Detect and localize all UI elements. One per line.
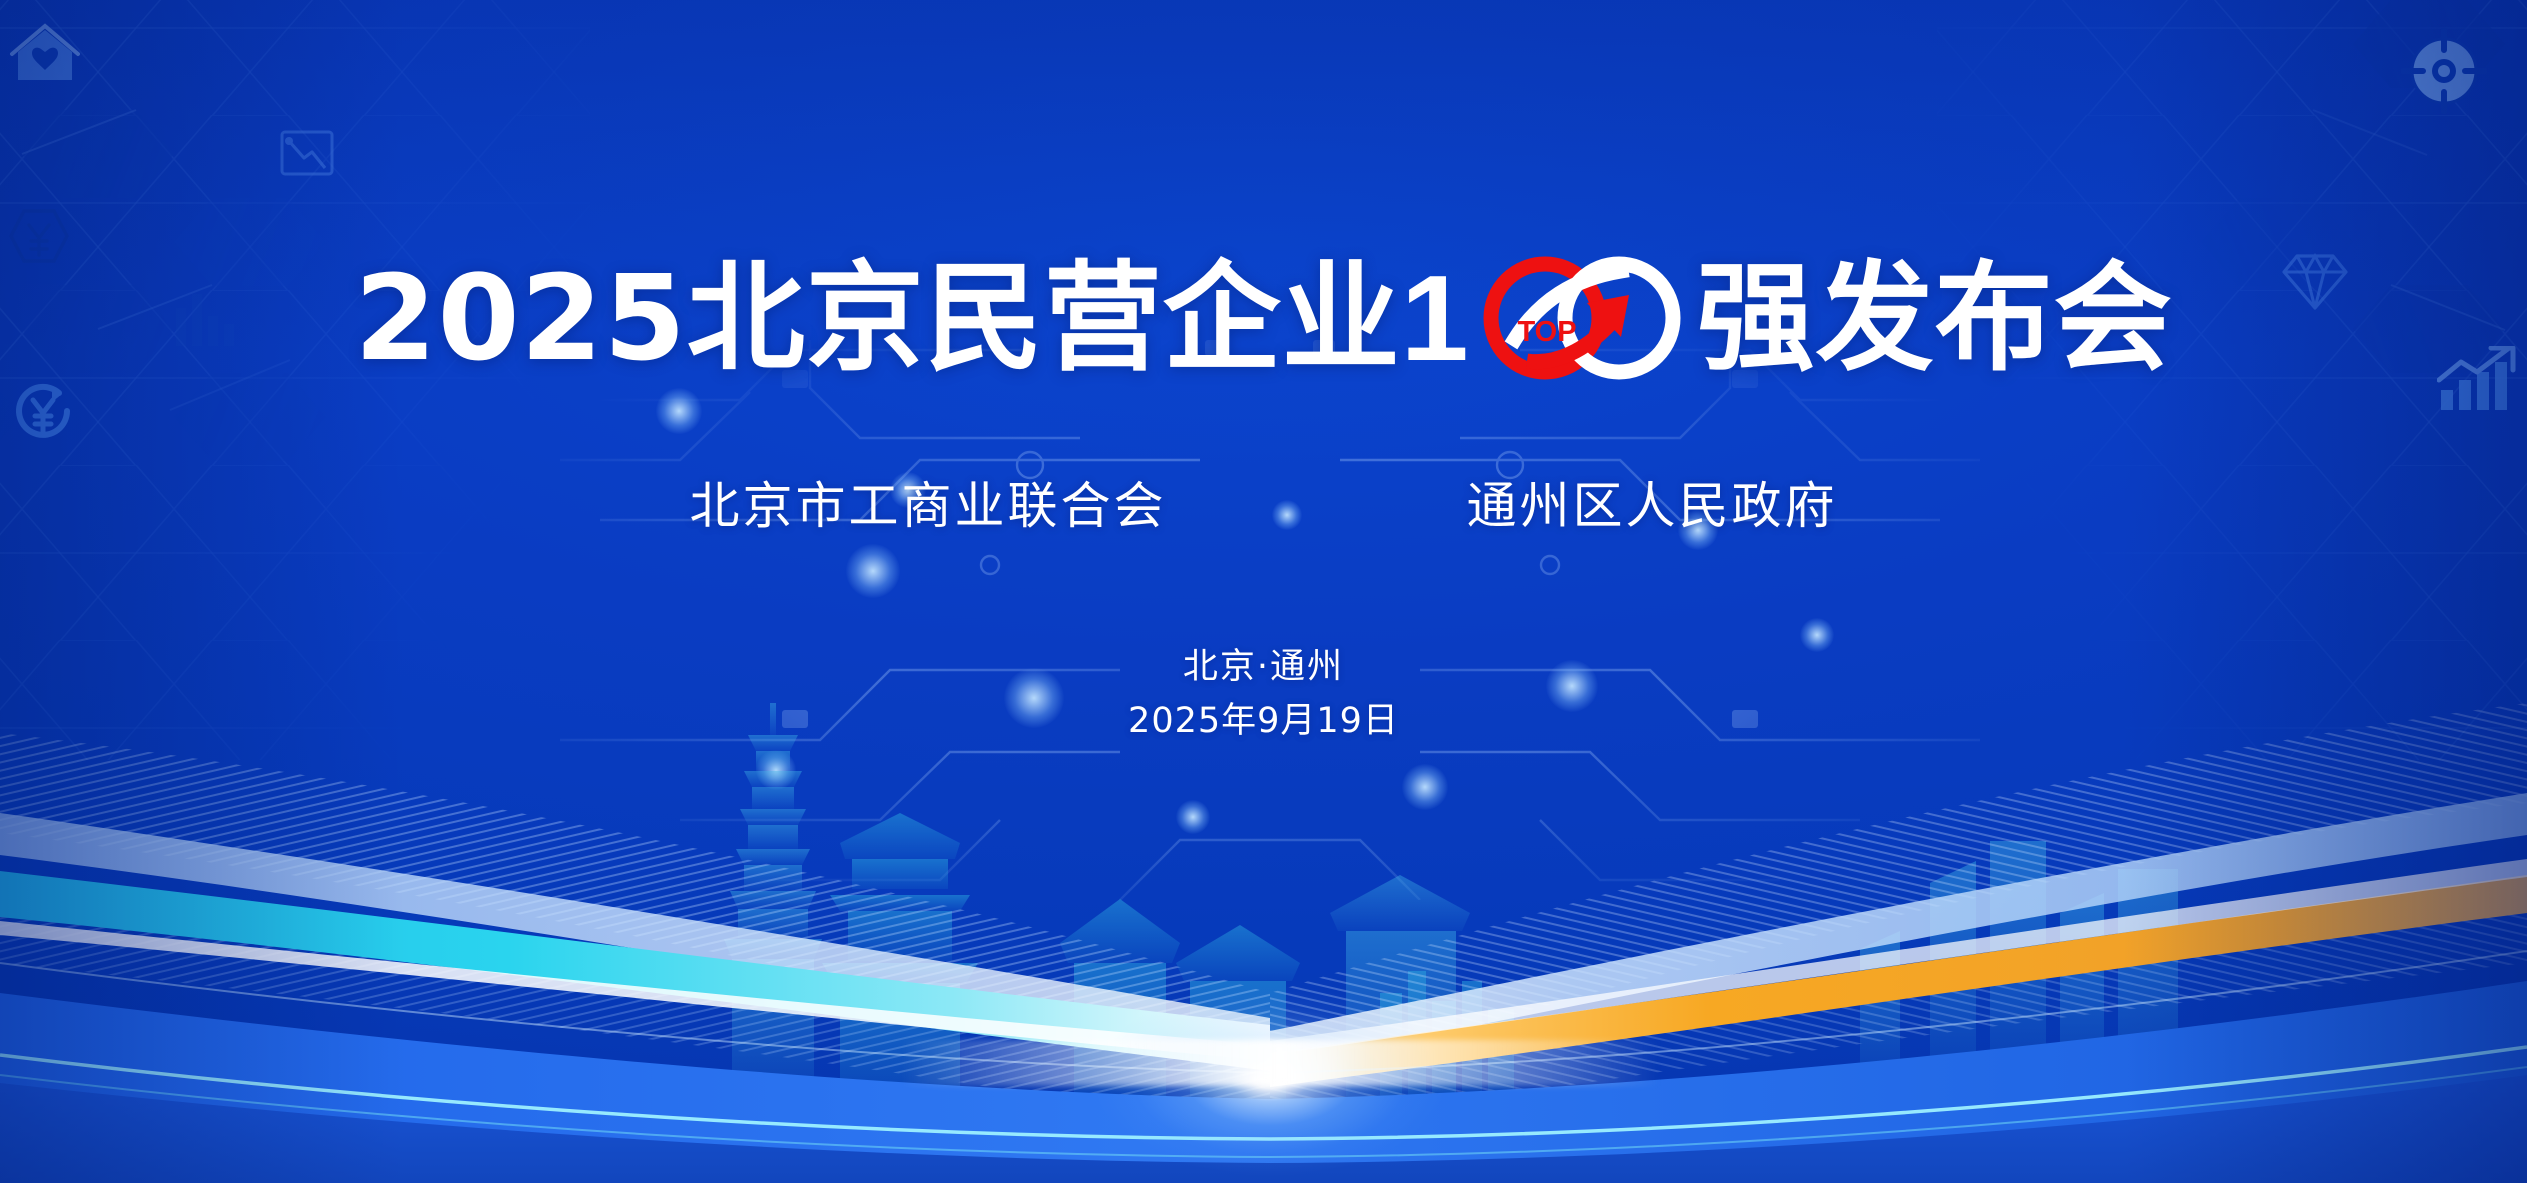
venue-date: 2025年9月19日 xyxy=(0,694,2527,748)
venue-location: 北京·通州 xyxy=(0,640,2527,694)
organizer-2: 通州区人民政府 xyxy=(1467,466,1838,538)
title-number: 1 xyxy=(1401,257,1467,379)
logo-top-label: TOP xyxy=(1517,316,1576,348)
poster-stage: 2025北京民营企业 1 TOP 强发布会 xyxy=(0,0,2527,1183)
title-suffix: 强发布会 xyxy=(1697,259,2173,377)
top100-logo: TOP xyxy=(1469,243,1695,398)
main-title: 2025北京民营企业 1 TOP 强发布会 xyxy=(0,240,2527,395)
title-prefix: 2025北京民营企业 xyxy=(354,259,1400,377)
venue-block: 北京·通州 2025年9月19日 xyxy=(0,640,2527,749)
poster-content: 2025北京民营企业 1 TOP 强发布会 xyxy=(0,0,2527,1183)
organizer-1: 北京市工商业联合会 xyxy=(690,466,1167,538)
organizers-row: 北京市工商业联合会 通州区人民政府 xyxy=(0,466,2527,538)
